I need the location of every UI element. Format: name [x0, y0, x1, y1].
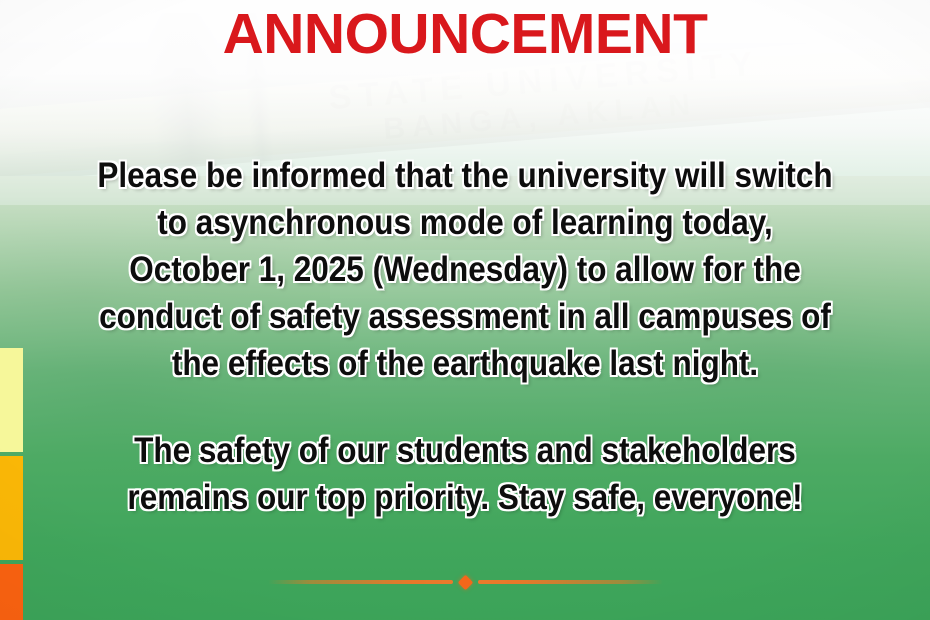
body-paragraph-2: The safety of our students and stakehold… [96, 427, 834, 521]
announcement-poster: STATE UNIVERSITY BANGA, AKLAN ANNOUNCEME… [0, 0, 930, 620]
divider-diamond-icon [457, 574, 473, 590]
poster-body: Please be informed that the university w… [55, 152, 875, 521]
body-paragraph-1: Please be informed that the university w… [96, 152, 834, 387]
accent-chip-yellow [0, 348, 23, 452]
divider-line-right [478, 580, 663, 584]
accent-chip-red [0, 564, 23, 620]
accent-chip-orange [0, 456, 23, 560]
divider-line-left [268, 580, 453, 584]
bottom-divider [0, 575, 930, 589]
poster-title: ANNOUNCEMENT [0, 2, 930, 66]
